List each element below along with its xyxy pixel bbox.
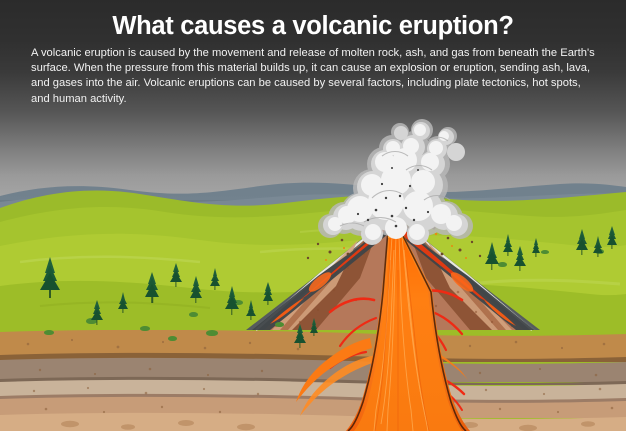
tree-tier (263, 291, 273, 301)
pine-tree (531, 238, 541, 257)
tree-tier (40, 273, 60, 290)
tree-trunk (151, 296, 153, 303)
pine-tree (189, 276, 203, 303)
tree-tier (593, 244, 603, 253)
tree-tier (246, 308, 256, 316)
bush (140, 326, 150, 331)
pine-tree (40, 258, 60, 298)
tree-tier (190, 287, 202, 298)
infographic-poster: What causes a volcanic eruption? A volca… (0, 0, 626, 431)
header-block: What causes a volcanic eruption? A volca… (0, 0, 626, 107)
bush (189, 312, 198, 317)
pine-tree (170, 263, 182, 287)
pine-tree (118, 292, 128, 313)
tree-tier (118, 300, 128, 309)
pine-tree (503, 234, 514, 256)
pine-tree (309, 318, 318, 336)
bush (498, 262, 507, 267)
tree-trunk (313, 332, 314, 336)
tree-tier (485, 252, 499, 264)
tree-tier (607, 235, 617, 245)
tree-trunk (195, 297, 196, 303)
tree-trunk (491, 264, 492, 270)
tree-tier (210, 277, 220, 286)
bush (168, 336, 177, 341)
bush (275, 322, 284, 327)
pine-tree (262, 282, 274, 305)
pine-tree (606, 226, 618, 249)
tree-tier (225, 297, 239, 309)
pine-tree (593, 236, 603, 257)
tree-trunk (49, 289, 51, 298)
pine-tree (91, 300, 103, 325)
tree-tier (514, 256, 526, 266)
smoke-plume (318, 119, 473, 245)
tree-tier (170, 272, 182, 282)
pine-tree (210, 268, 221, 290)
bush (541, 250, 549, 254)
pine-tree (575, 229, 588, 255)
tree-tier (532, 245, 540, 253)
pine-tree (144, 272, 160, 303)
pine-tree (514, 246, 526, 271)
tree-trunk (250, 316, 251, 320)
page-title: What causes a volcanic eruption? (0, 12, 626, 40)
tree-trunk (519, 265, 520, 270)
tree-trunk (267, 300, 268, 305)
tree-tier (310, 325, 318, 333)
tree-trunk (507, 251, 508, 256)
tree-tier (145, 284, 159, 297)
tree-tier (503, 243, 513, 252)
tree-trunk (581, 250, 582, 256)
tree-trunk (597, 252, 598, 257)
pine-tree (225, 286, 239, 315)
bush (44, 330, 54, 335)
tree-tier (294, 333, 306, 343)
tree-trunk (96, 319, 97, 324)
description-paragraph: A volcanic eruption is caused by the mov… (31, 46, 596, 107)
tree-trunk (214, 285, 215, 290)
pine-tree (246, 300, 256, 320)
bush (206, 330, 218, 336)
tree-tier (91, 310, 103, 320)
pine-tree (294, 324, 306, 348)
tree-trunk (122, 308, 123, 313)
tree-trunk (231, 308, 232, 314)
pine-tree (485, 242, 499, 270)
tree-trunk (611, 244, 612, 249)
tree-trunk (299, 343, 300, 348)
tree-trunk (175, 282, 176, 287)
tree-trunk (535, 253, 536, 257)
tree-tier (576, 239, 588, 250)
